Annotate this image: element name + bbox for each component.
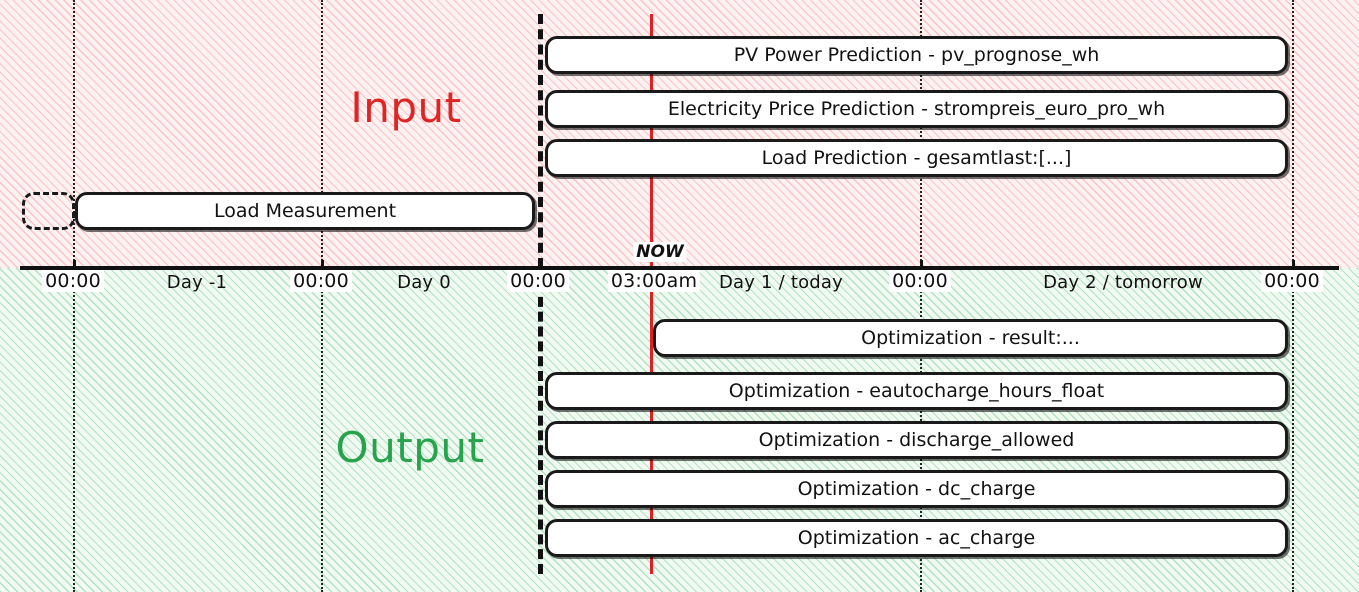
bar-electricity-price-prediction[interactable]: Electricity Price Prediction - stromprei… — [545, 90, 1288, 128]
axis-tick-3 — [538, 260, 541, 267]
bar-load-prediction[interactable]: Load Prediction - gesamtlast:[...] — [545, 139, 1288, 177]
bar-optimization-dc-charge[interactable]: Optimization - dc_charge — [545, 470, 1288, 508]
axis-day-label-4: Day 2 / tomorrow — [1043, 272, 1203, 293]
bar-optimization-discharge-allowed[interactable]: Optimization - discharge_allowed — [545, 421, 1288, 459]
axis-tick-5 — [1292, 260, 1295, 267]
forecast-start-line-upper — [538, 14, 543, 268]
bar-label: Load Prediction - gesamtlast:[...] — [762, 147, 1072, 169]
load-measurement-ghost-bar — [22, 192, 75, 230]
axis-now-time-label: 03:00am — [608, 270, 700, 292]
bar-optimization-ac-charge[interactable]: Optimization - ac_charge — [545, 519, 1288, 557]
axis-time-label-4: 00:00 — [889, 270, 951, 292]
bar-label: Load Measurement — [214, 200, 396, 222]
axis-time-label-3: 00:00 — [507, 270, 569, 292]
input-section-caption: Input — [350, 83, 461, 132]
axis-time-label-5: 00:00 — [1261, 270, 1323, 292]
axis-day-label-2: Day 0 — [397, 272, 451, 293]
bar-label: PV Power Prediction - pv_prognose_wh — [734, 44, 1100, 66]
bar-pv-power-prediction[interactable]: PV Power Prediction - pv_prognose_wh — [545, 36, 1288, 74]
bar-label: Optimization - discharge_allowed — [759, 429, 1075, 451]
axis-day-label-3: Day 1 / today — [719, 272, 843, 293]
bar-label: Optimization - ac_charge — [798, 527, 1035, 549]
gridline-day-boundary-2 — [321, 0, 323, 592]
bar-load-measurement[interactable]: Load Measurement — [75, 192, 535, 230]
bar-optimization-eautocharge-hours-float[interactable]: Optimization - eautocharge_hours_float — [545, 372, 1288, 410]
axis-time-label-1: 00:00 — [42, 270, 104, 292]
bar-optimization-result[interactable]: Optimization - result:... — [653, 319, 1288, 357]
gridline-day-boundary-1 — [73, 0, 75, 592]
axis-tick-2 — [321, 260, 324, 267]
axis-tick-4 — [920, 260, 923, 267]
bar-label: Optimization - dc_charge — [798, 478, 1036, 500]
bar-label: Optimization - result:... — [861, 327, 1080, 349]
output-section-caption: Output — [336, 423, 485, 472]
axis-tick-1 — [73, 260, 76, 267]
timeline-diagram: Input Output NOW PV Power Prediction - p… — [0, 0, 1359, 592]
forecast-start-line-lower — [538, 282, 543, 574]
axis-day-label-1: Day -1 — [167, 272, 227, 293]
now-label: NOW — [633, 242, 686, 262]
bar-label: Electricity Price Prediction - stromprei… — [668, 98, 1165, 120]
bar-label: Optimization - eautocharge_hours_float — [729, 380, 1104, 402]
axis-time-label-2: 00:00 — [290, 270, 352, 292]
gridline-day-boundary-4 — [1292, 0, 1294, 592]
